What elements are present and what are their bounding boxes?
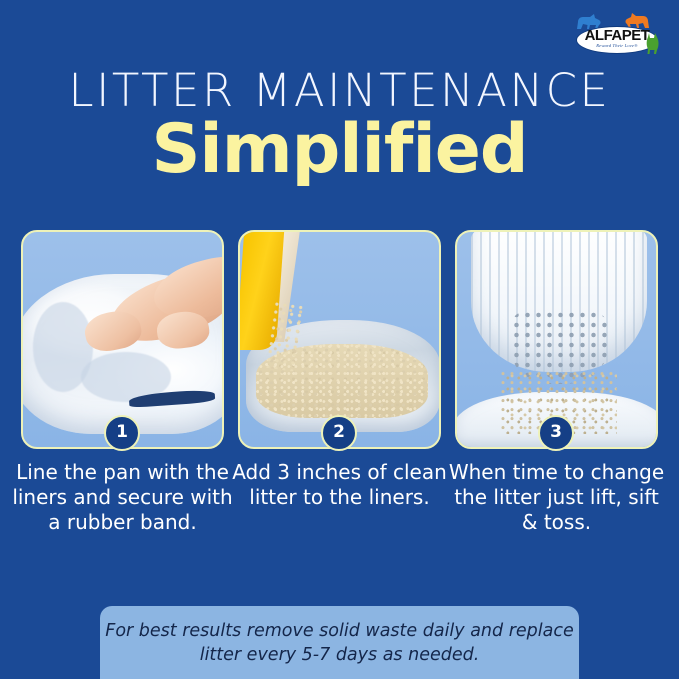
cat-icon [644,31,660,55]
brand-logo: ALFAPET Reward Their Love® [570,12,666,58]
page-title: LITTER MAINTENANCE [0,66,679,116]
step-caption-1: Line the pan with the liners and secure … [10,460,235,535]
footer-note-text: For best results remove solid waste dail… [100,619,579,667]
step-badge-1: 1 [104,415,140,451]
step-badge-2: 2 [321,415,357,451]
step-badge-3: 3 [538,415,574,451]
poster-canvas: ALFAPET Reward Their Love® LITTER MAINTE… [0,0,679,679]
step-caption-2: Add 3 inches of clean litter to the line… [227,460,452,510]
footer-note-panel: For best results remove solid waste dail… [100,606,579,679]
step-caption-3: When time to change the litter just lift… [444,460,669,535]
page-subtitle: Simplified [0,110,679,190]
